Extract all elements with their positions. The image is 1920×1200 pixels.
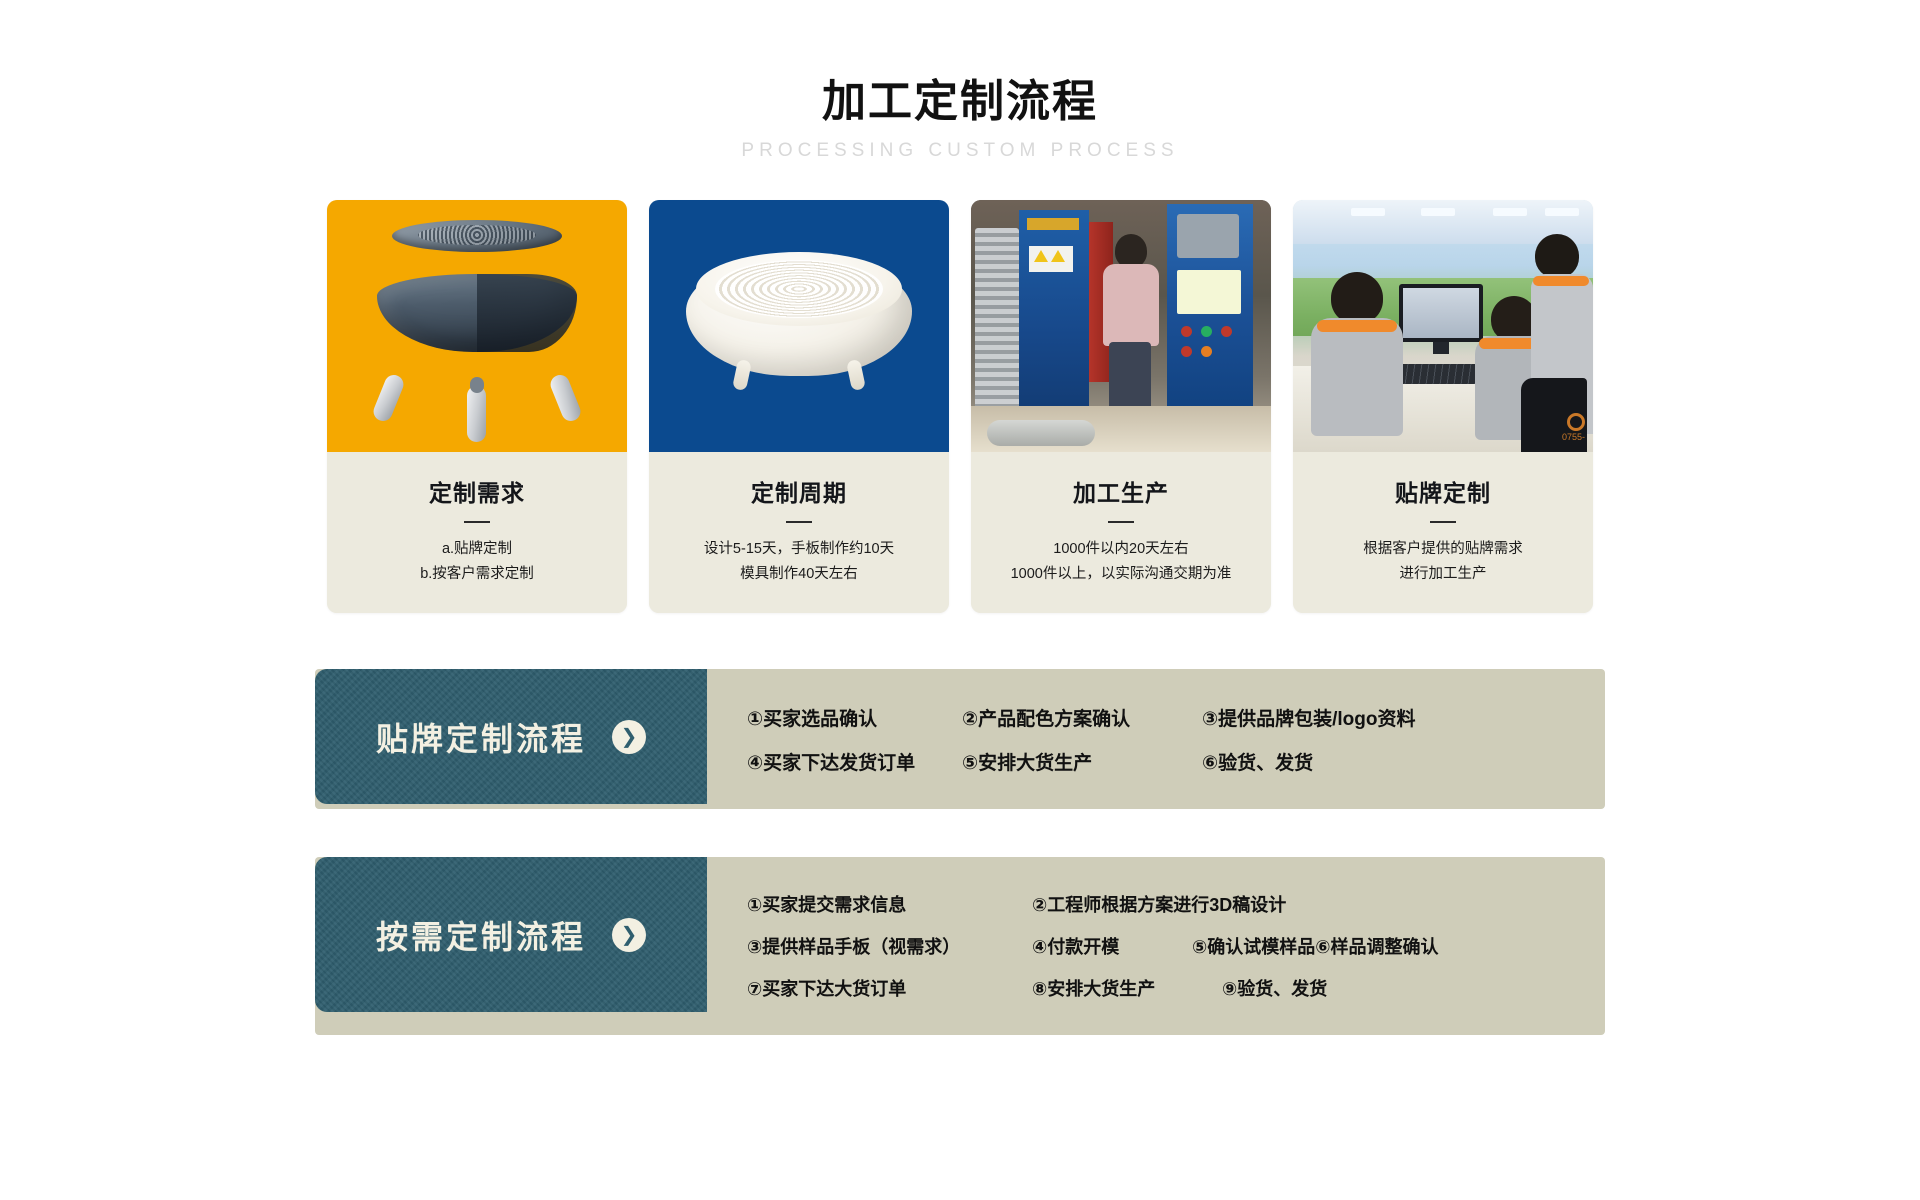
- flow-step: ①买家提交需求信息: [747, 891, 1032, 917]
- factory-machine-photo: [971, 200, 1271, 452]
- flow-banner-title: 贴牌定制流程: [376, 714, 586, 760]
- process-card[interactable]: 加工生产 1000件以内20天左右 1000件以上，以实际沟通交期为准: [971, 200, 1271, 613]
- flow-step-row: ④买家下达发货订单 ⑤安排大货生产 ⑥验货、发货: [747, 739, 1605, 783]
- card-divider: [1108, 521, 1134, 523]
- flow-step: ④付款开模: [1032, 933, 1192, 959]
- flow-banner-list: 贴牌定制流程 ❯ ①买家选品确认 ②产品配色方案确认 ③提供品牌包装/logo资…: [0, 669, 1920, 1035]
- prototype-icon: [649, 200, 949, 452]
- card-description-line: 设计5-15天，手板制作约10天: [663, 537, 935, 562]
- flow-banner-label: 贴牌定制流程 ❯: [315, 669, 707, 804]
- watermark-text: 0755-: [1562, 432, 1585, 442]
- card-image-exploded-product: [327, 200, 627, 452]
- flow-step: ⑤确认试模样品: [1192, 933, 1315, 959]
- flow-step-row: ③提供样品手板（视需求） ④付款开模 ⑤确认试模样品 ⑥样品调整确认: [747, 925, 1605, 967]
- card-divider: [1430, 521, 1456, 523]
- photo-watermark: 0755-: [1562, 413, 1585, 443]
- card-divider: [464, 521, 490, 523]
- card-description-line: 1000件以上，以实际沟通交期为准: [985, 562, 1257, 587]
- card-image-office-design-team: 0755-: [1293, 200, 1593, 452]
- flow-step: ⑥验货、发货: [1202, 748, 1313, 775]
- card-title: 定制周期: [663, 474, 935, 508]
- flow-banner-custom[interactable]: 按需定制流程 ❯ ①买家提交需求信息 ②工程师根据方案进行3D稿设计 ③提供样品…: [315, 857, 1605, 1035]
- card-description: 1000件以内20天左右 1000件以上，以实际沟通交期为准: [985, 537, 1257, 587]
- flow-step: ③提供品牌包装/logo资料: [1202, 704, 1415, 731]
- flow-banner-label: 按需定制流程 ❯: [315, 857, 707, 1012]
- process-card[interactable]: 定制周期 设计5-15天，手板制作约10天 模具制作40天左右: [649, 200, 949, 613]
- card-description-line: 根据客户提供的贴牌需求: [1307, 537, 1579, 562]
- flow-step-list: ①买家选品确认 ②产品配色方案确认 ③提供品牌包装/logo资料 ④买家下达发货…: [707, 669, 1605, 809]
- page-title: 加工定制流程: [0, 78, 1920, 126]
- page-header: 加工定制流程 PROCESSING CUSTOM PROCESS: [0, 0, 1920, 162]
- flow-step: ②工程师根据方案进行3D稿设计: [1032, 891, 1286, 917]
- card-body: 定制需求 a.贴牌定制 b.按客户需求定制: [327, 452, 627, 613]
- flow-step: ⑤安排大货生产: [962, 748, 1202, 775]
- chevron-right-icon: ❯: [612, 720, 646, 754]
- exploded-product-icon: [327, 200, 627, 452]
- flow-step: ③提供样品手板（视需求）: [747, 933, 1032, 959]
- flow-step-list: ①买家提交需求信息 ②工程师根据方案进行3D稿设计 ③提供样品手板（视需求） ④…: [707, 857, 1605, 1035]
- card-description: a.贴牌定制 b.按客户需求定制: [341, 537, 613, 587]
- flow-step: ④买家下达发货订单: [747, 748, 962, 775]
- flow-step: ⑦买家下达大货订单: [747, 975, 1032, 1001]
- card-title: 贴牌定制: [1307, 474, 1579, 508]
- flow-step-row: ⑦买家下达大货订单 ⑧安排大货生产 ⑨验货、发货: [747, 967, 1605, 1009]
- card-description: 根据客户提供的贴牌需求 进行加工生产: [1307, 537, 1579, 587]
- flow-step: ⑧安排大货生产: [1032, 975, 1222, 1001]
- flow-step: ⑨验货、发货: [1222, 975, 1327, 1001]
- process-card[interactable]: 定制需求 a.贴牌定制 b.按客户需求定制: [327, 200, 627, 613]
- card-title: 定制需求: [341, 474, 613, 508]
- card-description-line: b.按客户需求定制: [341, 562, 613, 587]
- card-description-line: 模具制作40天左右: [663, 562, 935, 587]
- flow-step: ②产品配色方案确认: [962, 704, 1202, 731]
- flow-banner-oem[interactable]: 贴牌定制流程 ❯ ①买家选品确认 ②产品配色方案确认 ③提供品牌包装/logo资…: [315, 669, 1605, 809]
- flow-step: ①买家选品确认: [747, 704, 962, 731]
- card-divider: [786, 521, 812, 523]
- card-description-line: 进行加工生产: [1307, 562, 1579, 587]
- flow-step: ⑥样品调整确认: [1315, 933, 1438, 959]
- flow-step-row: ①买家提交需求信息 ②工程师根据方案进行3D稿设计: [747, 883, 1605, 925]
- flow-step-row: ①买家选品确认 ②产品配色方案确认 ③提供品牌包装/logo资料: [747, 695, 1605, 739]
- page-root: 加工定制流程 PROCESSING CUSTOM PROCESS 定制需求 a.…: [0, 0, 1920, 1200]
- card-body: 加工生产 1000件以内20天左右 1000件以上，以实际沟通交期为准: [971, 452, 1271, 613]
- card-description: 设计5-15天，手板制作约10天 模具制作40天左右: [663, 537, 935, 587]
- process-card[interactable]: 0755- 贴牌定制 根据客户提供的贴牌需求 进行加工生产: [1293, 200, 1593, 613]
- office-design-team-photo: 0755-: [1293, 200, 1593, 452]
- card-image-white-prototype: [649, 200, 949, 452]
- card-body: 定制周期 设计5-15天，手板制作约10天 模具制作40天左右: [649, 452, 949, 613]
- page-subtitle: PROCESSING CUSTOM PROCESS: [0, 140, 1920, 162]
- flow-banner-title: 按需定制流程: [376, 912, 586, 958]
- process-card-list: 定制需求 a.贴牌定制 b.按客户需求定制 定制周期: [0, 200, 1920, 613]
- card-title: 加工生产: [985, 474, 1257, 508]
- chevron-right-icon: ❯: [612, 918, 646, 952]
- card-body: 贴牌定制 根据客户提供的贴牌需求 进行加工生产: [1293, 452, 1593, 613]
- card-image-factory-machine: [971, 200, 1271, 452]
- card-description-line: 1000件以内20天左右: [985, 537, 1257, 562]
- card-description-line: a.贴牌定制: [341, 537, 613, 562]
